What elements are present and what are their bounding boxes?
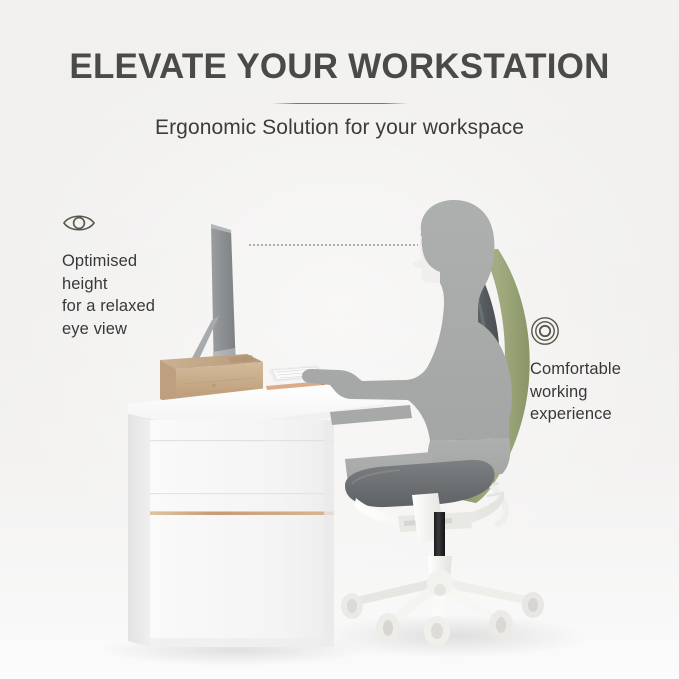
callout-optimised-height: Optimised height for a relaxed eye view	[62, 210, 222, 340]
cabinet-side	[128, 414, 150, 647]
drawer-seam-1	[150, 440, 334, 441]
page-subtitle: Ergonomic Solution for your workspace	[0, 115, 679, 141]
callout-line: eye view	[62, 318, 222, 341]
caster-wheel	[431, 623, 443, 639]
callout-text: Comfortable working experience	[530, 358, 670, 426]
poster-canvas: ELEVATE YOUR WORKSTATION Ergonomic Solut…	[0, 0, 679, 679]
cabinet-front	[150, 420, 334, 647]
wood-accent-highlight	[150, 511, 334, 512]
base-hub-cap	[434, 584, 446, 596]
callout-line: height	[62, 273, 222, 296]
callout-comfortable-working: Comfortable working experience	[530, 316, 670, 426]
cabinet-bottom-shade	[150, 638, 334, 647]
cabinet-right-shade	[324, 420, 334, 647]
callout-line: experience	[530, 403, 670, 426]
callout-line: for a relaxed	[62, 295, 222, 318]
page-title: ELEVATE YOUR WORKSTATION	[0, 0, 679, 87]
callout-line: Comfortable	[530, 358, 670, 381]
drawer-seam-2	[150, 493, 334, 494]
caster-wheel	[496, 617, 506, 633]
caster-wheel	[383, 620, 393, 636]
callout-line: Optimised	[62, 250, 222, 273]
eye-icon	[62, 210, 96, 236]
caster-wheel	[528, 598, 538, 612]
callout-line: working	[530, 381, 670, 404]
title-divider	[272, 103, 408, 104]
caster-wheel	[347, 599, 357, 613]
riser-knot	[212, 383, 215, 386]
callout-text: Optimised height for a relaxed eye view	[62, 250, 222, 340]
concentric-circles-icon	[530, 316, 560, 346]
header: ELEVATE YOUR WORKSTATION Ergonomic Solut…	[0, 0, 679, 141]
eye-level-dotted-line	[248, 244, 418, 246]
